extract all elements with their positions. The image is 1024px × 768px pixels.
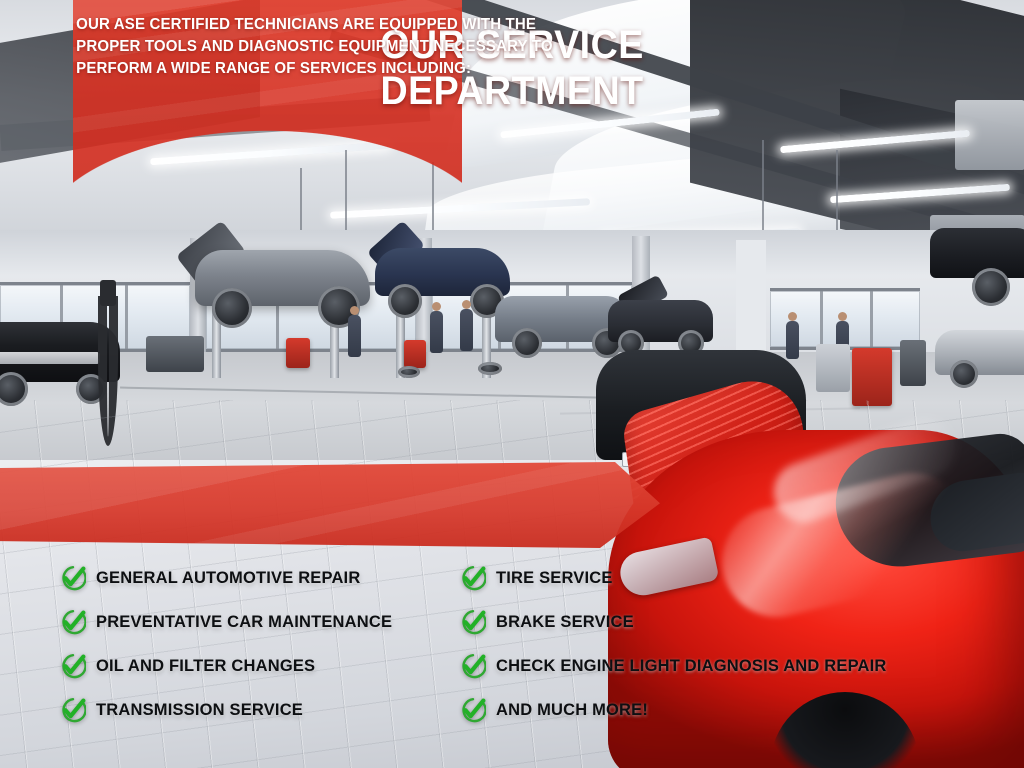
tool-cabinet bbox=[146, 336, 204, 372]
green-check-icon bbox=[60, 697, 86, 723]
service-item: CHECK ENGINE LIGHT DIAGNOSIS AND REPAIR bbox=[460, 644, 1020, 688]
service-label: TRANSMISSION SERVICE bbox=[96, 700, 303, 720]
services-column-left: GENERAL AUTOMOTIVE REPAIR PREVENTATIVE C… bbox=[60, 556, 460, 732]
service-label: OIL AND FILTER CHANGES bbox=[96, 656, 315, 676]
car-wheel bbox=[972, 268, 1010, 306]
green-check-icon bbox=[460, 565, 486, 591]
car-wheel bbox=[512, 328, 542, 358]
car-black-background bbox=[596, 350, 806, 460]
car-wheel bbox=[388, 284, 422, 318]
service-label: CHECK ENGINE LIGHT DIAGNOSIS AND REPAIR bbox=[496, 656, 887, 676]
green-check-icon bbox=[60, 653, 86, 679]
loose-tire bbox=[478, 362, 502, 375]
red-tool-cart bbox=[852, 348, 892, 406]
car-wheel bbox=[950, 360, 978, 388]
service-item: OIL AND FILTER CHANGES bbox=[60, 644, 460, 688]
service-item: TIRE SERVICE bbox=[460, 556, 1020, 600]
support-pillar bbox=[736, 240, 766, 358]
description-line-3: PERFORM A WIDE RANGE OF SERVICES INCLUDI… bbox=[76, 58, 605, 80]
green-check-icon bbox=[460, 697, 486, 723]
car-wheel bbox=[212, 288, 252, 328]
description-line-2: PROPER TOOLS AND DIAGNOSTIC EQUIPMENT NE… bbox=[76, 36, 605, 58]
service-department-poster: E 20 UAJ OUR SERVICE DEPARTMENT OUR ASE … bbox=[0, 0, 1024, 768]
car-trim bbox=[0, 352, 100, 364]
services-checklist: GENERAL AUTOMOTIVE REPAIR PREVENTATIVE C… bbox=[0, 556, 1024, 756]
description-text: OUR ASE CERTIFIED TECHNICIANS ARE EQUIPP… bbox=[76, 14, 605, 80]
hanging-cable bbox=[836, 150, 838, 235]
description-line-1: OUR ASE CERTIFIED TECHNICIANS ARE EQUIPP… bbox=[76, 14, 605, 36]
car-silver-porsche bbox=[935, 330, 1024, 375]
green-check-icon bbox=[460, 653, 486, 679]
car-lifted-suv bbox=[930, 228, 1024, 278]
service-label: GENERAL AUTOMOTIVE REPAIR bbox=[96, 568, 360, 588]
description-banner bbox=[0, 462, 660, 548]
equipment-box bbox=[816, 344, 850, 392]
service-label: BRAKE SERVICE bbox=[496, 612, 634, 632]
hanging-cable bbox=[762, 140, 764, 230]
license-plate: E 20 UAJ bbox=[622, 452, 674, 467]
service-item: PREVENTATIVE CAR MAINTENANCE bbox=[60, 600, 460, 644]
service-item: AND MUCH MORE! bbox=[460, 688, 1020, 732]
loose-tire bbox=[398, 366, 420, 378]
service-item: TRANSMISSION SERVICE bbox=[60, 688, 460, 732]
red-tool-cart bbox=[286, 338, 310, 368]
services-column-right: TIRE SERVICE BRAKE SERVICE bbox=[460, 556, 1020, 732]
green-check-icon bbox=[60, 609, 86, 635]
service-item: BRAKE SERVICE bbox=[460, 600, 1020, 644]
green-check-icon bbox=[460, 609, 486, 635]
red-tool-cart bbox=[404, 340, 426, 368]
service-label: AND MUCH MORE! bbox=[496, 700, 648, 720]
service-label: TIRE SERVICE bbox=[496, 568, 613, 588]
service-label: PREVENTATIVE CAR MAINTENANCE bbox=[96, 612, 392, 632]
equipment-box bbox=[900, 340, 926, 386]
banner-sheen bbox=[0, 462, 660, 548]
service-item: GENERAL AUTOMOTIVE REPAIR bbox=[60, 556, 460, 600]
green-check-icon bbox=[60, 565, 86, 591]
